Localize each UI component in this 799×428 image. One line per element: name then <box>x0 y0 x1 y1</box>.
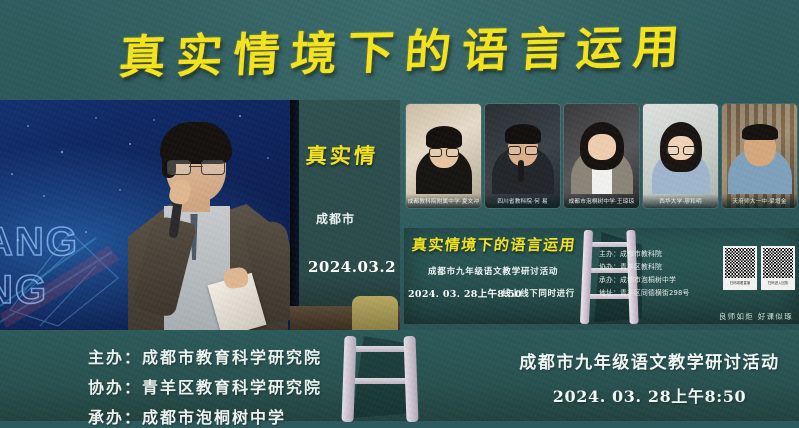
poster-subtitle: 成都市九年级语文教学研讨活动 <box>428 265 558 277</box>
organizer-row: 承办：成都市泡桐树中学 <box>88 404 322 428</box>
event-block: 成都市九年级语文教学研讨活动 2024. 03. 28上午8:50 <box>500 348 799 407</box>
poster-info-block: 主办：成都市教科院 协办：青羊区教科院 承办：成都市泡桐树中学 地址：青羊区同德… <box>599 248 715 297</box>
participant-name-label: 西华大学·廖和明 <box>643 194 718 208</box>
screen-title: 真实情 <box>305 140 380 170</box>
participant-thumbnail-strip: 成都教科院附属中学·夏文冲 四川省教科院·何 易 成都市泡桐树中学·王琼琼 <box>404 104 799 208</box>
screen-date: 2024.03.2 <box>308 258 396 276</box>
bottom-info-bar: 主办：成都市教育科学研究院 协办：青羊区教育科学研究院 承办：成都市泡桐树中学 … <box>0 330 799 421</box>
qr-code-icon[interactable]: 扫码观看直播 <box>723 246 757 290</box>
participant-tile[interactable]: 四川省教科院·何 易 <box>485 104 560 208</box>
glasses-icon <box>508 146 538 153</box>
event-poster-tile[interactable]: 真实情境下的语言运用 成都市九年级语文教学研讨活动 2024. 03. 28上午… <box>404 228 799 324</box>
participant-hair <box>426 126 462 148</box>
participant-hair <box>505 124 541 144</box>
presenter-figure <box>108 118 308 330</box>
organizer-block: 主办：成都市教育科学研究院 协办：青羊区教育科学研究院 承办：成都市泡桐树中学 <box>88 344 322 428</box>
participant-name-label: 成都教科院附属中学·夏文冲 <box>406 194 481 208</box>
qr-code-group: 扫码观看直播 扫码进入回放 <box>723 246 795 290</box>
backdrop-text-line-1: ANG <box>0 220 79 265</box>
participant-tile[interactable]: 成都教科院附属中学·夏文冲 <box>406 104 481 208</box>
page-title: 真实情境下的语言运用 <box>107 10 692 87</box>
organizer-row: 协办：青羊区教育科学研究院 <box>88 374 322 398</box>
poster-info-row: 协办：青羊区教科院 <box>599 261 715 271</box>
glasses-icon <box>666 146 696 153</box>
glasses-icon <box>429 148 459 155</box>
qr-caption: 扫码进入回放 <box>763 280 793 285</box>
screen-subtitle: 成都市 <box>316 210 355 227</box>
stage-chair <box>352 296 398 330</box>
poster-slogan: 良师如炬 好课似琢 <box>719 311 793 322</box>
broadcast-stage: 真实情境下的语言运用 ANG NG <box>0 0 799 421</box>
organizer-row: 主办：成都市教育科学研究院 <box>88 344 322 368</box>
ladder-graphic <box>325 334 445 422</box>
participant-face <box>588 134 616 160</box>
presenter-hair <box>160 122 232 164</box>
participant-tile[interactable]: 西华大学·廖和明 <box>643 104 718 208</box>
poster-mode: 线上线下同时进行 <box>502 287 575 299</box>
header-banner: 真实情境下的语言运用 <box>0 0 799 98</box>
qr-caption: 扫码观看直播 <box>725 280 755 285</box>
participant-name-label: 成都市泡桐树中学·王琼琼 <box>564 194 639 208</box>
event-name: 成都市九年级语文教学研讨活动 <box>500 348 799 373</box>
main-speaker-video[interactable]: ANG NG 真实情 成都市 2024.03.2 <box>0 100 400 330</box>
participant-hair <box>742 124 778 140</box>
stage-projection-screen: 真实情 成都市 2024.03.2 <box>290 100 400 330</box>
participant-name-label: 四川省教科院·何 易 <box>485 194 560 208</box>
poster-info-row: 地址：青羊区同德横街298号 <box>599 287 715 297</box>
event-time: 2024. 03. 28上午8:50 <box>500 383 799 407</box>
glasses-icon <box>167 160 225 173</box>
poster-title: 真实情境下的语言运用 <box>411 234 577 255</box>
qr-code-icon[interactable]: 扫码进入回放 <box>761 246 795 290</box>
poster-info-row: 承办：成都市泡桐树中学 <box>599 274 715 284</box>
participant-tile[interactable]: 成都市泡桐树中学·王琼琼 <box>564 104 639 208</box>
participant-tile[interactable]: 天府师大一中·梁增金 <box>722 104 797 208</box>
poster-info-row: 主办：成都市教科院 <box>599 248 715 258</box>
backdrop-text-line-2: NG <box>0 268 48 313</box>
participant-name-label: 天府师大一中·梁增金 <box>722 194 797 208</box>
microphone-icon <box>518 160 524 182</box>
